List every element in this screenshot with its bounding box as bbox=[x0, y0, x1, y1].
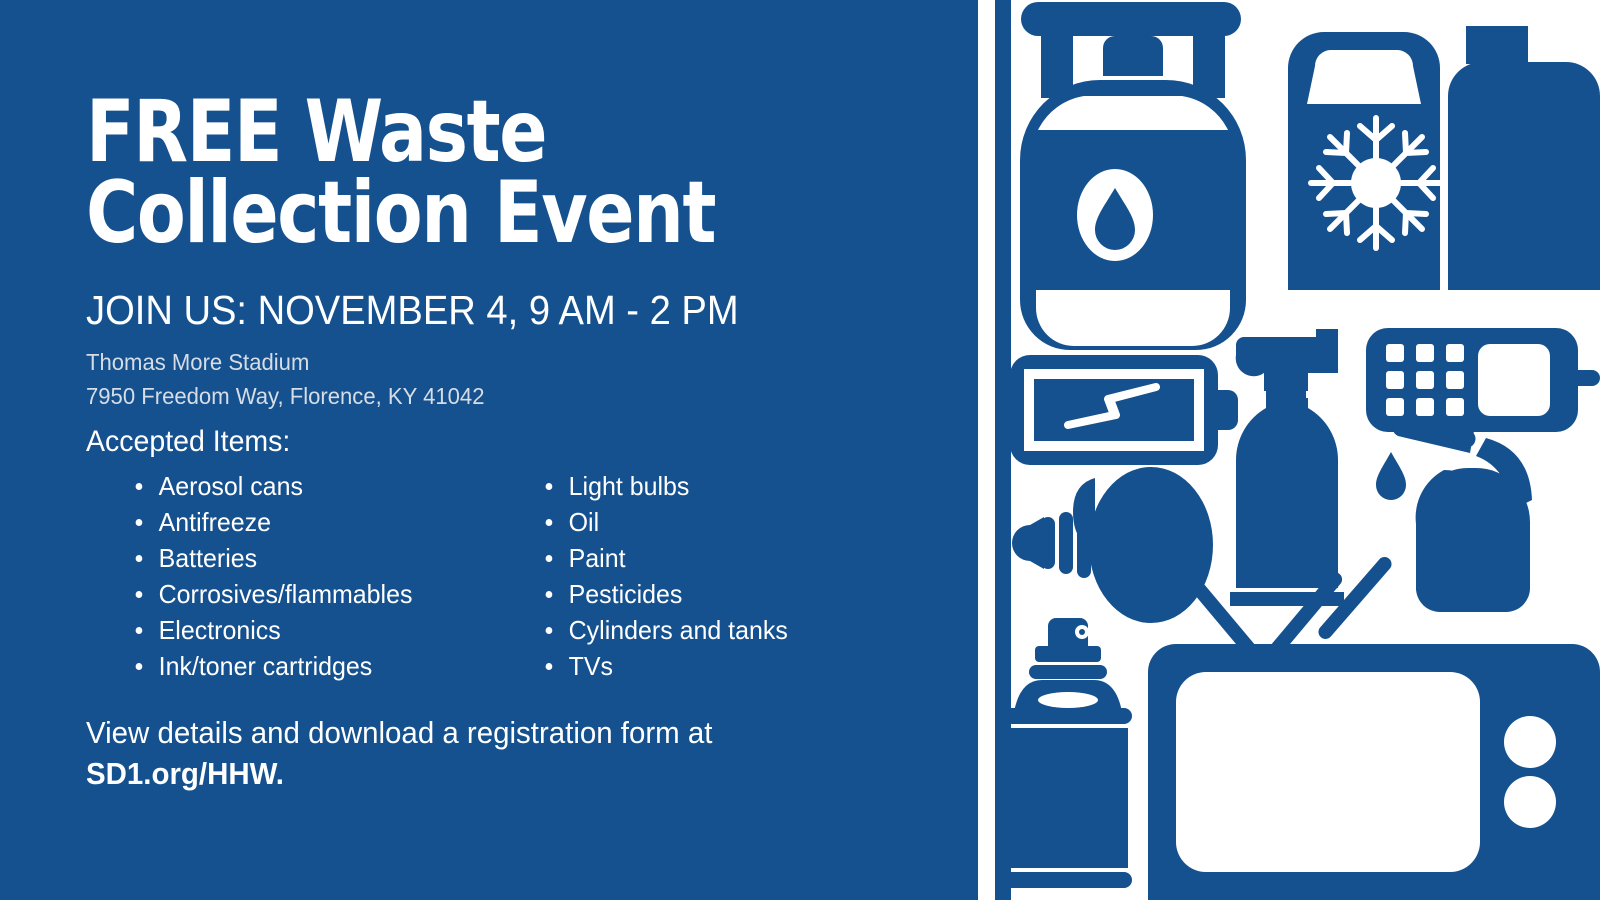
list-item: Ink/toner cartridges bbox=[126, 648, 500, 684]
call-to-action: View details and download a registration… bbox=[86, 712, 712, 794]
accepted-items-column-right: Light bulbs Oil Paint Pesticides Cylinde… bbox=[516, 468, 956, 684]
accepted-items-lists: Aerosol cans Antifreeze Batteries Corros… bbox=[86, 468, 966, 684]
illustration-panel bbox=[978, 0, 1600, 900]
list-item: Pesticides bbox=[536, 576, 939, 612]
text-panel: FREE Waste Collection Event JOIN US: NOV… bbox=[0, 0, 978, 900]
venue-block: Thomas More Stadium 7950 Freedom Way, Fl… bbox=[86, 345, 484, 413]
list-item: Oil bbox=[536, 504, 939, 540]
venue-name: Thomas More Stadium bbox=[86, 345, 484, 379]
spray-bottle-icon bbox=[1230, 329, 1344, 606]
list-item: Cylinders and tanks bbox=[536, 612, 939, 648]
cta-text: View details and download a registration… bbox=[86, 712, 712, 753]
text-content: FREE Waste Collection Event JOIN US: NOV… bbox=[86, 0, 966, 900]
oil-can-icon bbox=[1316, 417, 1532, 642]
venue-address: 7950 Freedom Way, Florence, KY 41042 bbox=[86, 379, 484, 413]
list-item: Light bulbs bbox=[536, 468, 939, 504]
list-item: Aerosol cans bbox=[126, 468, 500, 504]
hazardous-waste-illustration bbox=[978, 0, 1600, 900]
bottle-icon bbox=[1448, 26, 1600, 290]
accepted-items-label: Accepted Items: bbox=[86, 425, 290, 459]
page-title-line-1: FREE Waste bbox=[86, 92, 896, 173]
list-item: Paint bbox=[536, 540, 939, 576]
list-item: Antifreeze bbox=[126, 504, 500, 540]
propane-tank-icon bbox=[1020, 2, 1246, 350]
list-item: TVs bbox=[536, 648, 939, 684]
event-datetime: JOIN US: NOVEMBER 4, 9 AM - 2 PM bbox=[86, 287, 739, 334]
poster: FREE Waste Collection Event JOIN US: NOV… bbox=[0, 0, 1600, 900]
aerosol-can-icon bbox=[1004, 618, 1132, 888]
television-icon bbox=[1148, 570, 1600, 900]
page-title-line-2: Collection Event bbox=[86, 173, 896, 254]
cell-phone-icon bbox=[1366, 328, 1600, 432]
light-bulb-icon bbox=[1012, 467, 1216, 623]
list-item: Batteries bbox=[126, 540, 500, 576]
list-item: Corrosives/flammables bbox=[126, 576, 500, 612]
list-item: Electronics bbox=[126, 612, 500, 648]
cta-url[interactable]: SD1.org/HHW. bbox=[86, 753, 712, 794]
page-title: FREE Waste Collection Event bbox=[86, 92, 896, 254]
antifreeze-jug-icon bbox=[1288, 32, 1440, 290]
accepted-items-column-left: Aerosol cans Antifreeze Batteries Corros… bbox=[86, 468, 516, 684]
battery-icon bbox=[1010, 355, 1238, 465]
snowflake-center bbox=[1351, 158, 1401, 208]
